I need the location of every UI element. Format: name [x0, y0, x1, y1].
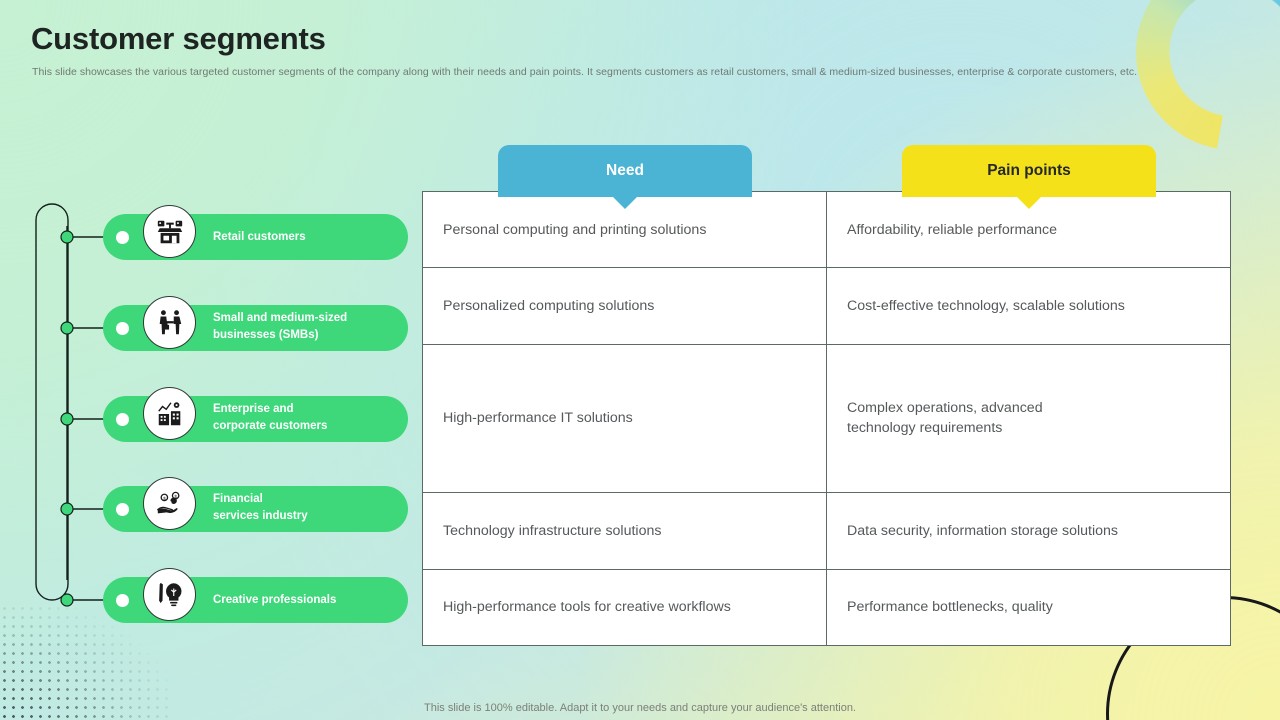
column-header-pain-points-label: Pain points	[987, 162, 1071, 180]
segment-item-creative-professionals[interactable]: Creative professionals	[103, 577, 408, 623]
corporate-building-chart-icon	[143, 387, 196, 440]
segment-pill[interactable]: Creative professionals	[103, 577, 408, 623]
cell-pain: Cost-effective technology, scalable solu…	[827, 268, 1231, 344]
segment-item-enterprise-corporate[interactable]: Enterprise and corporate customers	[103, 396, 408, 442]
comparison-table: Personal computing and printing solution…	[422, 191, 1231, 646]
pointer-nub	[612, 196, 638, 209]
segment-item-smbs[interactable]: Small and medium-sized businesses (SMBs)	[103, 305, 408, 351]
cell-pain: Data security, information storage solut…	[827, 493, 1231, 569]
cell-need: High-performance IT solutions	[423, 344, 827, 493]
table-row: Technology infrastructure solutions Data…	[423, 493, 1231, 569]
segment-bullet-dot	[116, 594, 129, 607]
segment-label: Enterprise and corporate customers	[213, 401, 327, 434]
segment-pill[interactable]: Small and medium-sized businesses (SMBs)	[103, 305, 408, 351]
column-header-need: Need	[498, 145, 752, 197]
table-row: Personalized computing solutions Cost-ef…	[423, 268, 1231, 344]
cell-pain: Performance bottlenecks, quality	[827, 569, 1231, 645]
pencil-lightbulb-icon	[143, 568, 196, 621]
page-subtitle: This slide showcases the various targete…	[32, 66, 1182, 78]
segment-label: Creative professionals	[213, 592, 336, 609]
cell-need: High-performance tools for creative work…	[423, 569, 827, 645]
segment-bullet-dot	[116, 231, 129, 244]
bracket-connector	[0, 190, 120, 630]
segment-label: Retail customers	[213, 229, 306, 246]
segment-bullet-dot	[116, 322, 129, 335]
segment-label: Small and medium-sized businesses (SMBs)	[213, 310, 347, 343]
segment-pill[interactable]: $ $ Financial services industry	[103, 486, 408, 532]
table-row: High-performance tools for creative work…	[423, 569, 1231, 645]
segment-pill[interactable]: Enterprise and corporate customers	[103, 396, 408, 442]
segment-pill[interactable]: Retail customers	[103, 214, 408, 260]
cell-pain: Complex operations, advanced technology …	[827, 344, 1231, 493]
handshake-icon	[143, 296, 196, 349]
segment-item-financial-services[interactable]: $ $ Financial services industry	[103, 486, 408, 532]
needs-pain-points-table-wrapper: Need Pain points Personal computing and …	[422, 191, 1230, 646]
table-row: High-performance IT solutions Complex op…	[423, 344, 1231, 493]
customer-segment-list: Retail customers Small and medium-sized …	[0, 190, 420, 650]
footer-note: This slide is 100% editable. Adapt it to…	[0, 702, 1280, 714]
column-header-need-label: Need	[606, 162, 644, 180]
page-title: Customer segments	[31, 21, 326, 57]
table-row: Personal computing and printing solution…	[423, 192, 1231, 268]
storefront-icon	[143, 205, 196, 258]
cell-need: Personalized computing solutions	[423, 268, 827, 344]
column-header-pain-points: Pain points	[902, 145, 1156, 197]
segment-label: Financial services industry	[213, 491, 308, 524]
svg-text:$: $	[163, 495, 166, 500]
hand-holding-coins-icon: $ $	[143, 477, 196, 530]
segment-bullet-dot	[116, 503, 129, 516]
cell-need: Technology infrastructure solutions	[423, 493, 827, 569]
segment-item-retail-customers[interactable]: Retail customers	[103, 214, 408, 260]
pointer-nub	[1016, 196, 1042, 209]
segment-bullet-dot	[116, 413, 129, 426]
